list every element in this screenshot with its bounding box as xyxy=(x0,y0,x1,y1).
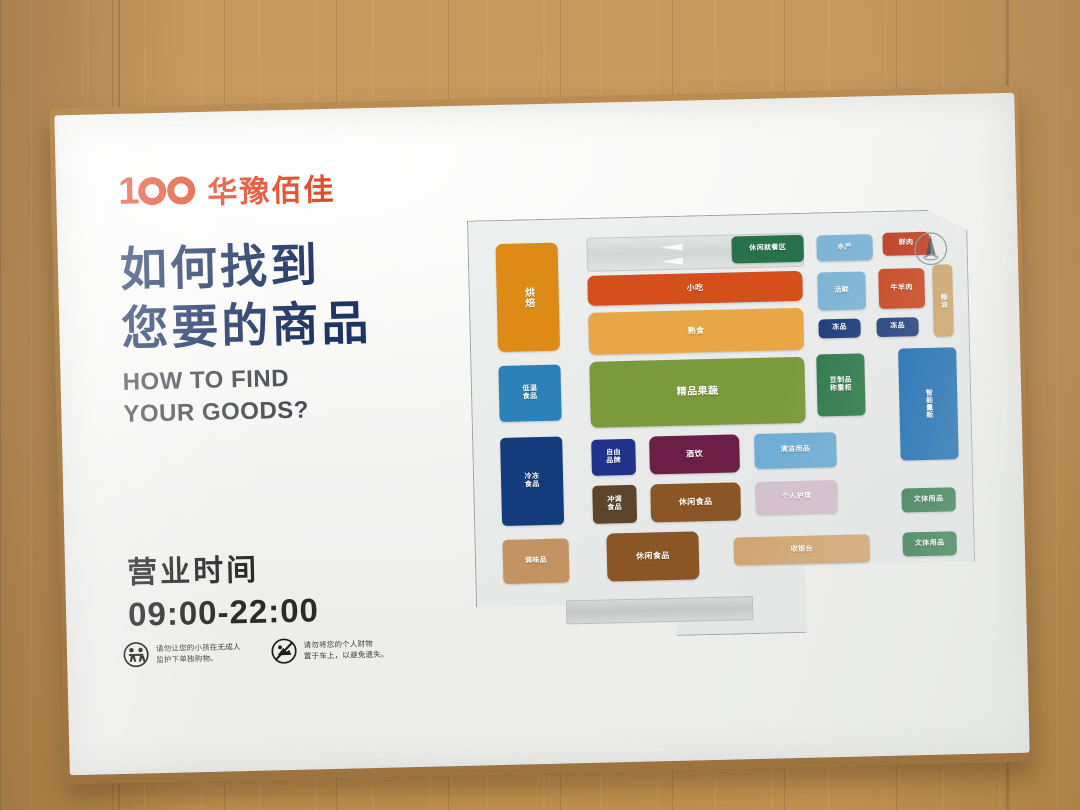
title-line-1: 如何找到 xyxy=(119,232,470,299)
zone-leisure-food-2[interactable]: 休闲食品 xyxy=(606,531,699,581)
zone-label: 豆制品 称重柜 xyxy=(830,376,853,393)
zone-stationery-2[interactable]: 文体用品 xyxy=(902,531,957,556)
notice-text: 请勿让您的小孩在无成人 监护下单独购物。 xyxy=(156,641,241,665)
zone-label: 冻品 xyxy=(890,323,905,332)
notice-item: 请勿将您的个人财物 置于车上，以避免遗失。 xyxy=(270,636,388,665)
zone-label: 熟食 xyxy=(688,326,705,336)
brand-name: 华豫佰佳 xyxy=(207,165,336,212)
brand-logo: 1 华豫佰佳 xyxy=(118,162,469,214)
zone-checkout[interactable]: 收银台 xyxy=(733,534,870,565)
zone-label: 冲调 食品 xyxy=(607,496,622,513)
business-hours-value: 09:00-22:00 xyxy=(128,591,320,633)
store-map[interactable]: 烘焙小吃熟食休闲就餐区水产鲜肉活鲜牛羊肉冻品冻品粮油低温 食品精品果蔬豆制品 称… xyxy=(467,209,977,641)
zone-label: 酒饮 xyxy=(686,449,703,459)
zone-frozen-2[interactable]: 冻品 xyxy=(876,317,918,337)
page-title: 如何找到 您要的商品 xyxy=(119,232,472,359)
zone-label: 文体用品 xyxy=(914,495,944,504)
zone-tofu-weighing[interactable]: 豆制品 称重柜 xyxy=(816,353,865,416)
zone-premium-produce[interactable]: 精品果蔬 xyxy=(589,357,805,428)
directory-sign-board: 1 华豫佰佳 如何找到 您要的商品 HOW TO FIND YOUR GOODS… xyxy=(54,93,1029,775)
zone-label: 冷冻 食品 xyxy=(525,473,540,490)
zone-label: 调味品 xyxy=(525,557,547,566)
zone-frozen-food[interactable]: 冷冻 食品 xyxy=(500,437,564,526)
zone-label: 休闲食品 xyxy=(636,551,670,561)
zone-chilled-food[interactable]: 低温 食品 xyxy=(498,365,561,422)
zone-own-brand[interactable]: 自由 品牌 xyxy=(591,439,636,476)
zone-frozen-1[interactable]: 冻品 xyxy=(818,318,860,338)
zone-label: 休闲食品 xyxy=(679,497,713,507)
business-hours-label: 营业时间 xyxy=(127,543,319,591)
zone-label: 智能量贩 xyxy=(924,389,933,419)
zone-alcohol-drinks[interactable]: 酒饮 xyxy=(649,434,740,474)
no-unattended-child-icon xyxy=(123,641,150,668)
zone-label: 活鲜 xyxy=(834,287,849,296)
zone-seasoning[interactable]: 调味品 xyxy=(502,538,569,584)
zone-seafood[interactable]: 水产 xyxy=(816,234,873,261)
zone-instant-food[interactable]: 冲调 食品 xyxy=(592,485,637,524)
zone-beef-mutton[interactable]: 牛羊肉 xyxy=(878,268,925,309)
zone-leisure-food-1[interactable]: 休闲食品 xyxy=(650,482,741,522)
zone-label: 水产 xyxy=(837,244,852,253)
compass-north-icon xyxy=(909,227,952,270)
zone-live-seafood[interactable]: 活鲜 xyxy=(817,271,866,310)
zone-label: 收银台 xyxy=(791,546,813,555)
zone-label: 自由 品牌 xyxy=(606,449,621,466)
zone-label: 个人护理 xyxy=(782,493,812,502)
zone-snacks[interactable]: 小吃 xyxy=(587,271,803,306)
zone-smart-vending[interactable]: 智能量贩 xyxy=(898,347,959,460)
no-pets-in-cart-icon xyxy=(270,638,297,665)
zone-label: 牛羊肉 xyxy=(890,284,912,293)
zone-cooked-food[interactable]: 熟食 xyxy=(588,308,804,355)
zone-casual-dining[interactable]: 休闲就餐区 xyxy=(731,235,804,264)
checkout-counter-bottom xyxy=(566,596,754,624)
zone-label: 小吃 xyxy=(687,283,704,293)
zone-label: 精品果蔬 xyxy=(677,386,719,399)
zone-personal-care[interactable]: 个人护理 xyxy=(755,480,838,515)
notice-text: 请勿将您的个人财物 置于车上，以避免遗失。 xyxy=(303,637,388,661)
zone-label: 冻品 xyxy=(832,324,847,333)
zone-label: 低温 食品 xyxy=(522,385,537,402)
zone-label: 休闲就餐区 xyxy=(749,245,786,254)
logo-100-mark: 1 xyxy=(118,171,196,211)
notice-item: 请勿让您的小孩在无成人 监护下单独购物。 xyxy=(123,639,241,668)
zone-label: 粮油 xyxy=(939,293,948,308)
business-hours: 营业时间 09:00-22:00 xyxy=(127,543,320,633)
zone-label: 烘焙 xyxy=(522,287,534,308)
zone-grain-oil[interactable]: 粮油 xyxy=(932,264,954,336)
sign-text-column: 1 华豫佰佳 如何找到 您要的商品 HOW TO FIND YOUR GOODS… xyxy=(118,162,474,431)
zone-label: 清洁用品 xyxy=(781,446,811,455)
photo-scene: 1 华豫佰佳 如何找到 您要的商品 HOW TO FIND YOUR GOODS… xyxy=(0,0,1080,810)
title-line-2: 您要的商品 xyxy=(121,291,472,358)
notice-list: 请勿让您的小孩在无成人 监护下单独购物。 请勿将您的个人财物 置于车上，以避免遗… xyxy=(123,636,389,668)
zone-label: 文体用品 xyxy=(915,539,945,548)
zone-cleaning-supplies[interactable]: 清洁用品 xyxy=(754,432,837,469)
zone-bakery[interactable]: 烘焙 xyxy=(496,243,561,352)
page-subtitle: HOW TO FIND YOUR GOODS? xyxy=(122,359,473,431)
zone-stationery-1[interactable]: 文体用品 xyxy=(901,487,956,512)
